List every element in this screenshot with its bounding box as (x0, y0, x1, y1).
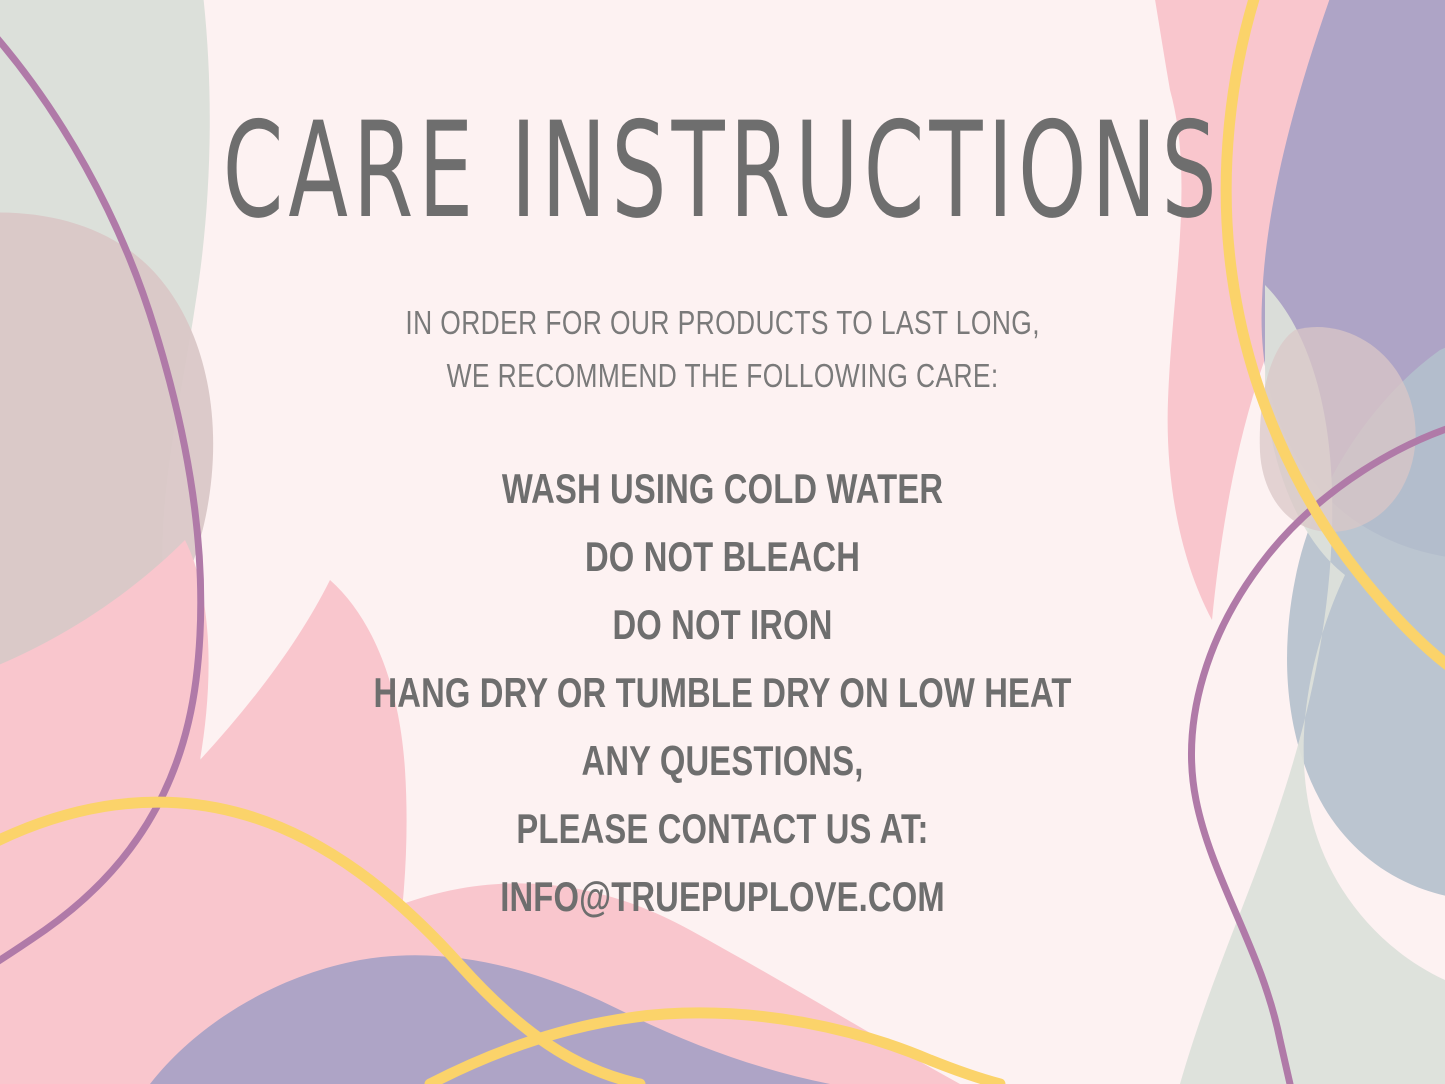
care-instructions-card: CARE INSTRUCTIONS IN ORDER FOR OUR PRODU… (0, 0, 1445, 1084)
decorative-background (0, 0, 1445, 1084)
